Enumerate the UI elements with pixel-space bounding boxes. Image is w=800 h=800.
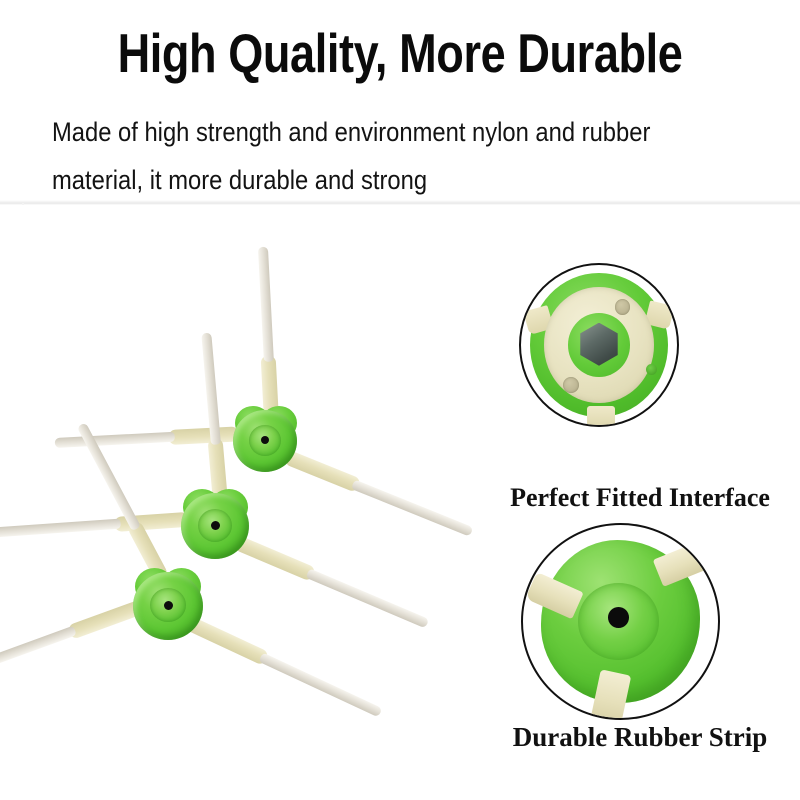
arm-rubber-segment: [168, 426, 239, 445]
arm-bristle-tip: [257, 247, 273, 362]
subtitle-line-1: Made of high strength and environment ny…: [52, 108, 686, 156]
header-block: High Quality, More Durable Made of high …: [0, 0, 800, 205]
callout-interface-caption: Perfect Fitted Interface: [480, 483, 800, 513]
callout-interface-circle: [519, 263, 679, 427]
arm-bristle-tip: [259, 652, 383, 717]
interface-screw-boss: [563, 377, 579, 393]
arm-bristle-tip: [0, 519, 121, 538]
hub-center-hole: [211, 521, 220, 530]
callout-rubber-strip-caption: Durable Rubber Strip: [480, 722, 800, 753]
arm-rubber-segment: [283, 450, 361, 493]
hub-center-hole: [164, 601, 173, 610]
subtitle-block: Made of high strength and environment ny…: [52, 108, 686, 204]
arm-bristle-tip: [306, 568, 430, 628]
arm-bristle-tip: [351, 479, 473, 536]
arm-bristle-tip: [0, 626, 77, 673]
page-title: High Quality, More Durable: [72, 24, 728, 82]
subtitle-line-2: material, it more durable and strong: [52, 156, 686, 204]
callout-rubber-strip-circle: [521, 523, 720, 720]
product-photo-area: Perfect Fitted Interface Durable Rubber …: [0, 205, 800, 800]
product-feature-image: High Quality, More Durable Made of high …: [0, 0, 800, 800]
hub-center-hole: [261, 436, 269, 444]
interface-tab: [587, 406, 615, 427]
brush-group: [0, 205, 480, 800]
interface-notch: [646, 364, 657, 375]
interface-screw-boss: [615, 299, 631, 315]
arm-bristle-tip: [55, 432, 175, 448]
arm-rubber-segment: [233, 535, 316, 582]
